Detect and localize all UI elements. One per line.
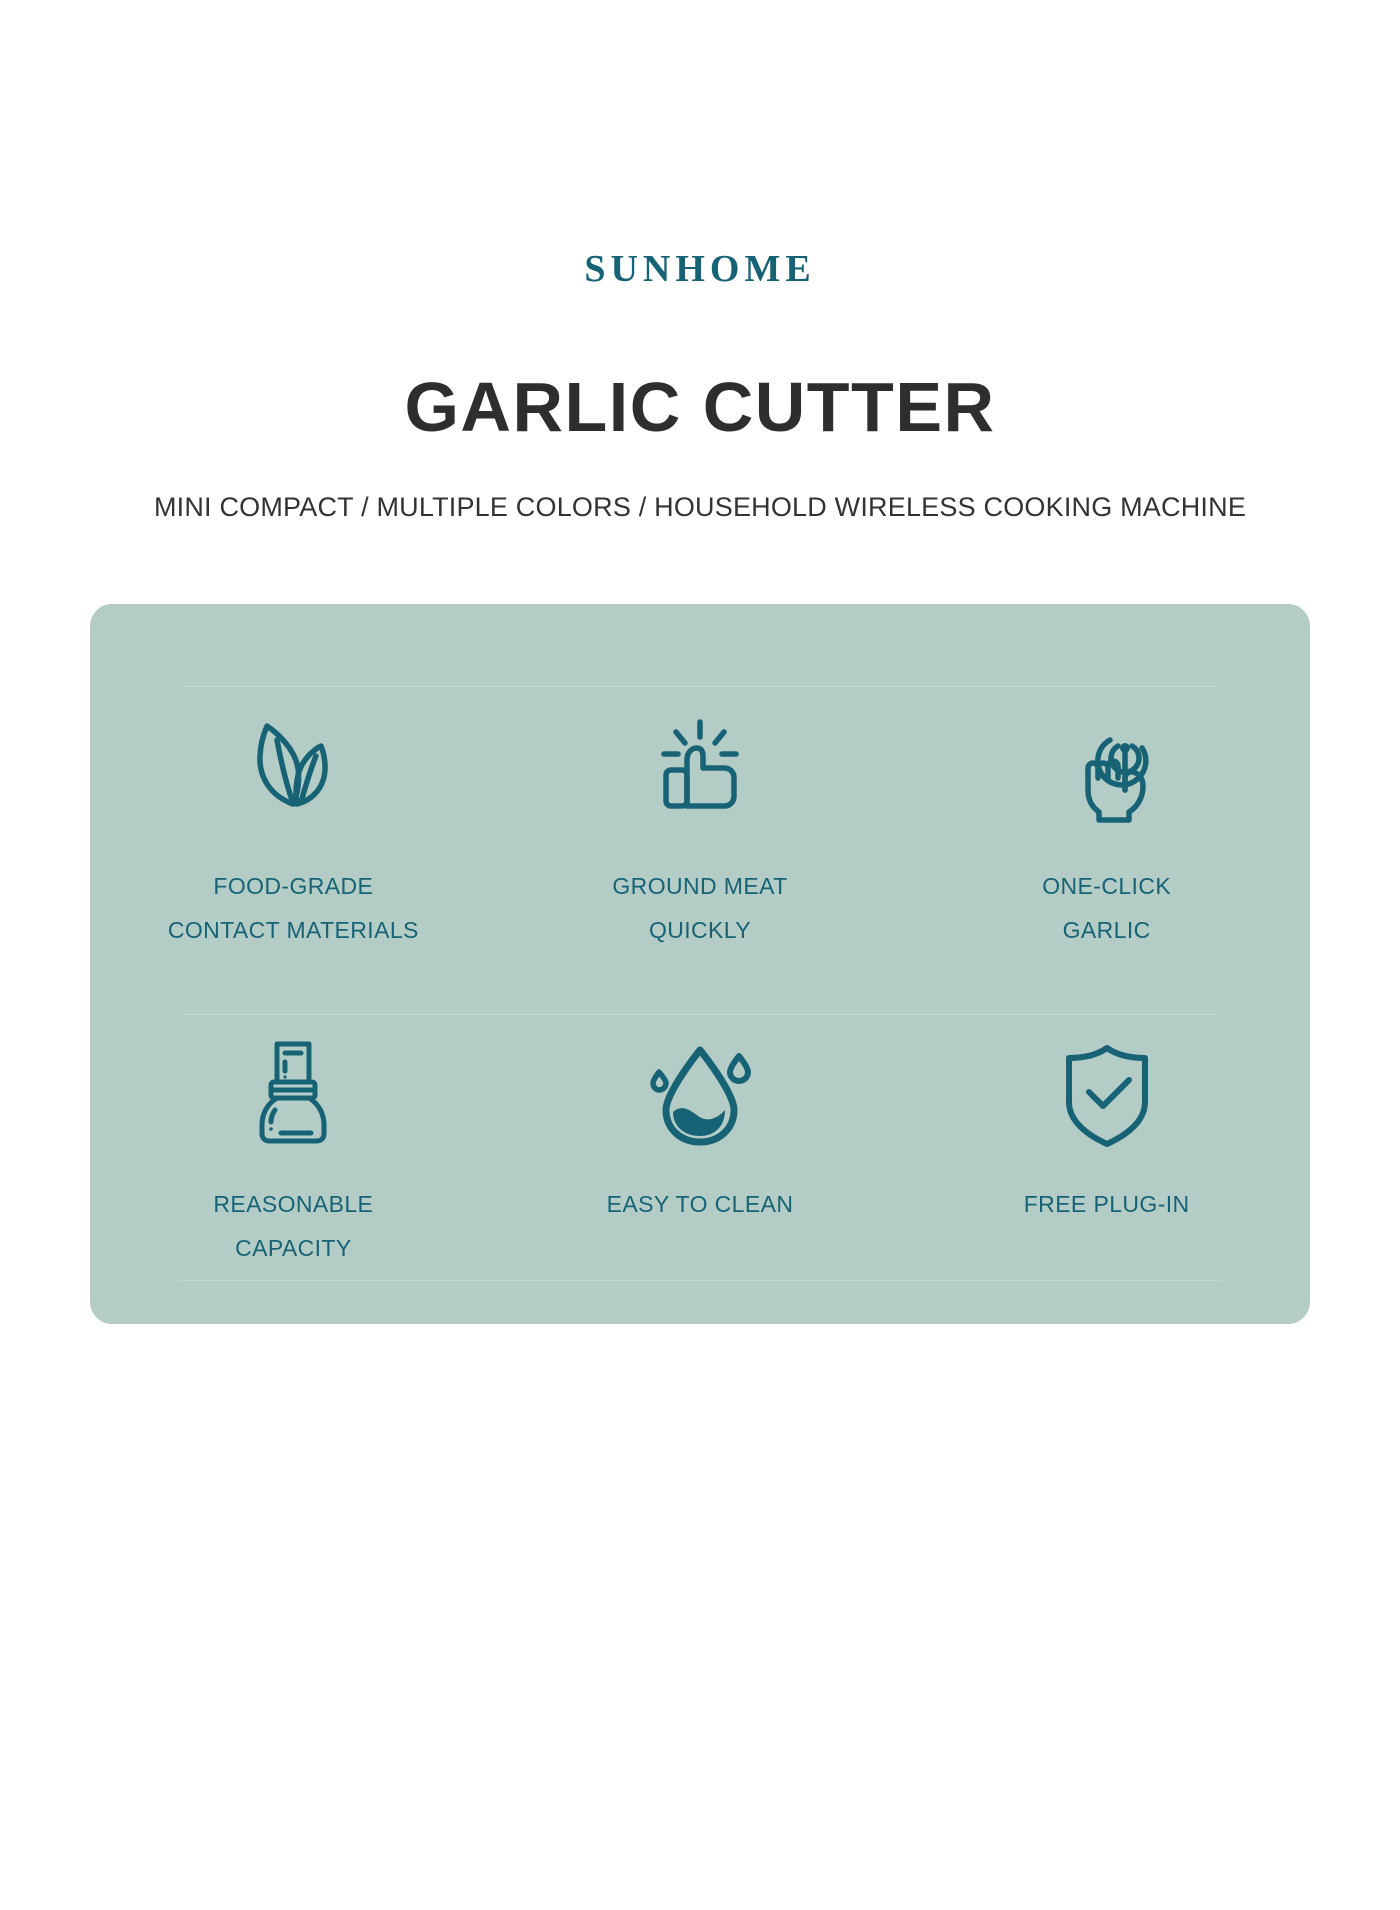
feature-item-food-grade: FOOD-GRADE CONTACT MATERIALS <box>90 686 497 1014</box>
leaves-icon <box>233 708 353 828</box>
brand-logo: SUNHOME <box>0 247 1400 291</box>
feature-item-capacity: REASONABLE CAPACITY <box>90 1014 497 1280</box>
page-title: GARLIC CUTTER <box>0 367 1400 447</box>
shield-check-icon <box>1047 1030 1167 1150</box>
water-drop-icon <box>640 1030 760 1150</box>
feature-item-free-plug-in: FREE PLUG-IN <box>903 1014 1310 1280</box>
feature-card: FOOD-GRADE CONTACT MATERIALS <box>90 604 1310 1324</box>
page-subtitle: MINI COMPACT / MULTIPLE COLORS / HOUSEHO… <box>0 492 1400 523</box>
feature-label: FOOD-GRADE CONTACT MATERIALS <box>168 864 419 952</box>
feature-grid: FOOD-GRADE CONTACT MATERIALS <box>90 604 1310 1324</box>
feature-label: GROUND MEAT QUICKLY <box>612 864 787 952</box>
jar-container-icon <box>233 1030 353 1150</box>
feature-item-one-click: ONE-CLICK GARLIC <box>903 686 1310 1014</box>
feature-item-easy-clean: EASY TO CLEAN <box>497 1014 904 1280</box>
feature-label: FREE PLUG-IN <box>1024 1182 1190 1226</box>
feature-item-ground-meat: GROUND MEAT QUICKLY <box>497 686 904 1014</box>
feature-label: REASONABLE CAPACITY <box>213 1182 373 1270</box>
product-feature-page: SUNHOME GARLIC CUTTER MINI COMPACT / MUL… <box>0 0 1400 1910</box>
feature-label: EASY TO CLEAN <box>607 1182 794 1226</box>
feature-label: ONE-CLICK GARLIC <box>1042 864 1171 952</box>
thumbs-up-icon <box>640 708 760 828</box>
tap-hand-icon <box>1047 708 1167 828</box>
